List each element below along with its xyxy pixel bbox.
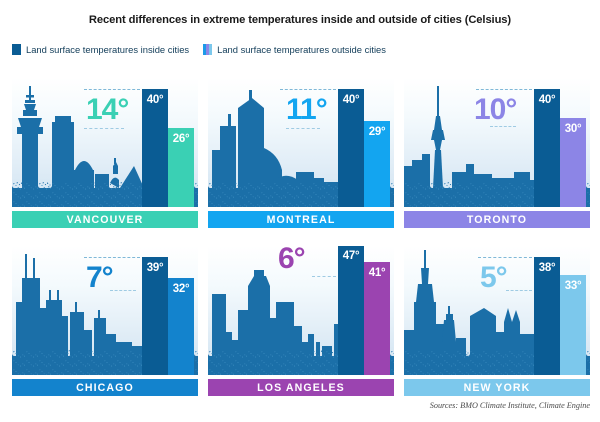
city-name: LOS ANGELES [257, 382, 345, 394]
guide-line-top [478, 257, 532, 258]
guide-line-top [280, 89, 336, 90]
city-label-bar: MONTREAL [208, 211, 394, 228]
city-name: NEW YORK [464, 382, 531, 394]
temperature-difference: 11° [286, 95, 327, 125]
bar-value-outside: 32° [168, 283, 194, 295]
bar-value-inside: 40° [338, 94, 364, 106]
skyline-scene: 5° 38° 33° [404, 246, 590, 375]
square-swatch-icon [12, 44, 21, 55]
guide-line-bottom [84, 128, 124, 129]
legend-item-outside: Land surface temperatures outside cities [203, 44, 386, 55]
legend-item-inside: Land surface temperatures inside cities [12, 44, 189, 55]
guide-line-bottom [506, 290, 532, 291]
city-name: VANCOUVER [67, 214, 144, 226]
bar-value-outside: 33° [560, 280, 586, 292]
square-swatch-icon [203, 44, 212, 55]
bar-value-inside: 39° [142, 262, 168, 274]
bar-outside: 30° [560, 118, 586, 207]
bar-value-inside: 38° [534, 262, 560, 274]
temperature-difference: 10° [474, 95, 516, 125]
bar-inside: 40° [142, 89, 168, 207]
temperature-difference: 14° [86, 95, 128, 125]
bar-value-outside: 41° [364, 267, 390, 279]
city-panel-grid: 14° 40° 26° VANCOUVER [12, 78, 592, 396]
legend: Land surface temperatures inside cities … [12, 44, 386, 55]
temperature-difference: 6° [278, 246, 305, 274]
page-title: Recent differences in extreme temperatur… [0, 14, 600, 26]
skyline-scene: 10° 40° 30° [404, 78, 590, 207]
city-label-bar: NEW YORK [404, 379, 590, 396]
city-label-bar: VANCOUVER [12, 211, 198, 228]
guide-line-bottom [312, 276, 336, 277]
bar-inside: 40° [338, 89, 364, 207]
bar-inside: 38° [534, 257, 560, 375]
city-label-bar: LOS ANGELES [208, 379, 394, 396]
bar-inside: 40° [534, 89, 560, 207]
temperature-difference: 7° [86, 263, 113, 293]
bar-outside: 33° [560, 275, 586, 375]
city-panel-los-angeles: 6° 47° 41° LOS ANGELES [208, 246, 394, 396]
bar-value-inside: 40° [534, 94, 560, 106]
guide-line-top [84, 257, 140, 258]
bar-outside: 29° [364, 121, 390, 207]
bar-outside: 41° [364, 262, 390, 375]
city-label-bar: TORONTO [404, 211, 590, 228]
guide-line-top [476, 89, 532, 90]
source-attribution: Sources: BMO Climate Institute, Climate … [430, 401, 590, 410]
city-label-bar: CHICAGO [12, 379, 198, 396]
legend-label-inside: Land surface temperatures inside cities [26, 44, 189, 55]
skyline-scene: 6° 47° 41° [208, 246, 394, 375]
city-panel-vancouver: 14° 40° 26° VANCOUVER [12, 78, 198, 228]
bar-value-outside: 26° [168, 133, 194, 145]
city-panel-toronto: 10° 40° 30° TORONTO [404, 78, 590, 228]
city-panel-chicago: 7° 39° 32° CHICAGO [12, 246, 198, 396]
bar-inside: 47° [338, 246, 364, 375]
skyline-scene: 14° 40° 26° [12, 78, 198, 207]
bar-inside: 39° [142, 257, 168, 375]
skyline-scene: 7° 39° 32° [12, 246, 198, 375]
temperature-difference: 5° [480, 263, 507, 293]
guide-line-bottom [110, 290, 136, 291]
city-name: MONTREAL [267, 214, 336, 226]
legend-label-outside: Land surface temperatures outside cities [217, 44, 386, 55]
guide-line-top [84, 89, 140, 90]
bar-outside: 26° [168, 128, 194, 207]
skyline-scene: 11° 40° 29° [208, 78, 394, 207]
city-name: CHICAGO [76, 382, 134, 394]
city-panel-montreal: 11° 40° 29° MONTREAL [208, 78, 394, 228]
guide-line-bottom [286, 128, 320, 129]
guide-line-bottom [490, 126, 516, 127]
infographic-root: Recent differences in extreme temperatur… [0, 0, 600, 422]
bar-outside: 32° [168, 278, 194, 375]
bar-value-inside: 40° [142, 94, 168, 106]
bar-value-outside: 30° [560, 123, 586, 135]
city-name: TORONTO [467, 214, 527, 226]
bar-value-outside: 29° [364, 126, 390, 138]
bar-value-inside: 47° [338, 250, 364, 262]
city-panel-new-york: 5° 38° 33° NEW YORK [404, 246, 590, 396]
